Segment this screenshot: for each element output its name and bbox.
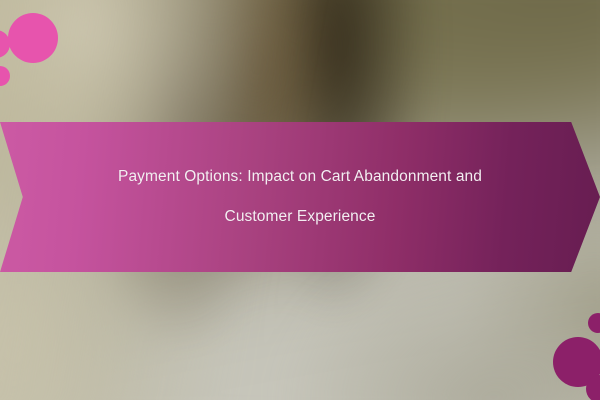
title-banner: Payment Options: Impact on Cart Abandonm… [0, 122, 600, 272]
title-slide: Payment Options: Impact on Cart Abandonm… [0, 0, 600, 400]
circle-pink-large-top-left [8, 13, 58, 63]
page-title: Payment Options: Impact on Cart Abandonm… [65, 157, 535, 237]
page-title-line-2: Customer Experience [65, 197, 535, 237]
page-title-line-1: Payment Options: Impact on Cart Abandonm… [65, 157, 535, 197]
